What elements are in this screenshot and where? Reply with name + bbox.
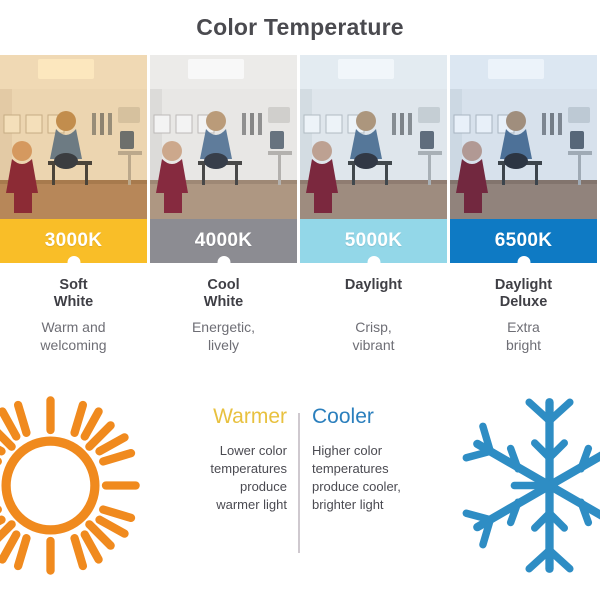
kelvin-label: 6500K xyxy=(495,230,553,252)
caption-desc-line1: Crisp, xyxy=(300,319,447,337)
caption-desc-line2: bright xyxy=(450,337,597,355)
cooler-body-line2: temperatures xyxy=(312,460,430,478)
caption-name-line2: White xyxy=(150,294,297,311)
caption-desc-line2: vibrant xyxy=(300,337,447,355)
caption-name-line2: Deluxe xyxy=(450,294,597,311)
warmer-body-line1: Lower color xyxy=(169,442,287,460)
caption-name-line1: Daylight xyxy=(300,277,447,294)
cooler-body: Higher color temperatures produce cooler… xyxy=(312,442,430,514)
exam-room-illustration xyxy=(150,55,297,219)
photo-4000k xyxy=(150,55,297,219)
cooler-body-line3: produce cooler, xyxy=(312,478,430,496)
band-notch xyxy=(367,256,380,269)
photo-3000k xyxy=(0,55,147,219)
snowflake-icon xyxy=(457,393,600,578)
cooler-heading: Cooler xyxy=(312,405,462,428)
caption-name: Soft White xyxy=(0,277,147,311)
title-bar: Color Temperature xyxy=(0,0,600,55)
warmer-heading: Warmer xyxy=(137,405,287,428)
caption-name-line1: Cool xyxy=(150,277,297,294)
color-temperature-columns: 3000K Soft White Warm and welcoming xyxy=(0,55,600,354)
caption-6500k: Daylight Deluxe Extra bright xyxy=(450,263,597,354)
kelvin-label: 4000K xyxy=(195,230,253,252)
kelvin-label: 3000K xyxy=(45,230,103,252)
caption-desc-line2: lively xyxy=(150,337,297,355)
caption-4000k: Cool White Energetic, lively xyxy=(150,263,297,354)
band-notch xyxy=(217,256,230,269)
caption-desc: Warm and welcoming xyxy=(0,319,147,354)
band-5000k[interactable]: 5000K xyxy=(300,219,447,263)
caption-desc-line2: welcoming xyxy=(0,337,147,355)
kelvin-label: 5000K xyxy=(345,230,403,252)
caption-5000k: Daylight Crisp, vibrant xyxy=(300,263,447,354)
caption-3000k: Soft White Warm and welcoming xyxy=(0,263,147,354)
exam-room-illustration xyxy=(450,55,597,219)
caption-desc-line1: Extra xyxy=(450,319,597,337)
caption-desc: Crisp, vibrant xyxy=(300,319,447,354)
warmer-body-line4: warmer light xyxy=(169,496,287,514)
caption-desc: Energetic, lively xyxy=(150,319,297,354)
cooler-body-line4: brighter light xyxy=(312,496,430,514)
comparison-divider xyxy=(298,413,300,553)
band-notch xyxy=(517,256,530,269)
warmer-side: Warmer Lower color temperatures produce … xyxy=(137,405,287,514)
warmer-body-line3: produce xyxy=(169,478,287,496)
column-4000k[interactable]: 4000K Cool White Energetic, lively xyxy=(150,55,297,354)
warmer-body: Lower color temperatures produce warmer … xyxy=(169,442,287,514)
cooler-side: Cooler Higher color temperatures produce… xyxy=(312,405,462,514)
band-3000k[interactable]: 3000K xyxy=(0,219,147,263)
column-6500k[interactable]: 6500K Daylight Deluxe Extra bright xyxy=(450,55,597,354)
photo-6500k xyxy=(450,55,597,219)
caption-name-line1: Daylight xyxy=(450,277,597,294)
band-6500k[interactable]: 6500K xyxy=(450,219,597,263)
caption-name-line2: White xyxy=(0,294,147,311)
warmer-body-line2: temperatures xyxy=(169,460,287,478)
band-4000k[interactable]: 4000K xyxy=(150,219,297,263)
band-notch xyxy=(67,256,80,269)
cooler-body-line1: Higher color xyxy=(312,442,430,460)
column-3000k[interactable]: 3000K Soft White Warm and welcoming xyxy=(0,55,147,354)
caption-desc: Extra bright xyxy=(450,319,597,354)
caption-name: Daylight Deluxe xyxy=(450,277,597,311)
caption-desc-line1: Warm and xyxy=(0,319,147,337)
column-5000k[interactable]: 5000K Daylight Crisp, vibrant xyxy=(300,55,447,354)
exam-room-illustration xyxy=(300,55,447,219)
photo-5000k xyxy=(300,55,447,219)
warm-cool-comparison: Warmer Lower color temperatures produce … xyxy=(0,385,600,600)
caption-name-line1: Soft xyxy=(0,277,147,294)
snowflake-icon-svg xyxy=(457,393,600,578)
sun-icon-svg xyxy=(0,393,143,578)
caption-desc-line1: Energetic, xyxy=(150,319,297,337)
caption-name: Daylight xyxy=(300,277,447,311)
page-title: Color Temperature xyxy=(196,14,403,41)
exam-room-illustration xyxy=(0,55,147,219)
caption-name: Cool White xyxy=(150,277,297,311)
sun-icon xyxy=(0,393,143,578)
